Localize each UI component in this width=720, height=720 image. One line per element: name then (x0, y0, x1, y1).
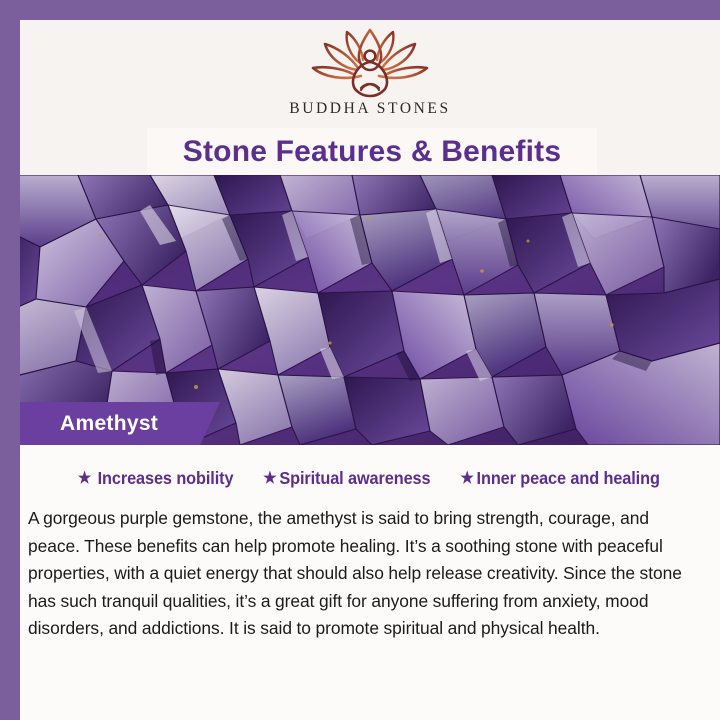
page-title: Stone Features & Benefits (183, 135, 561, 169)
benefit-item-3: ★ Inner peace and healing (461, 468, 660, 489)
benefits-row: ★ Increases nobility ★ Spiritual awarene… (20, 468, 720, 489)
logo-block: BUDDHA STONES (20, 26, 720, 118)
stone-name-banner: Amethyst (20, 402, 220, 445)
benefit-label-2: Spiritual awareness (279, 468, 430, 489)
lotus-meditation-icon (295, 26, 445, 98)
star-icon: ★ (263, 471, 276, 487)
stone-info-body: ★ Increases nobility ★ Spiritual awarene… (20, 445, 720, 720)
star-icon: ★ (78, 471, 91, 487)
benefit-item-1: ★ Increases nobility (78, 468, 234, 489)
page-title-panel: Stone Features & Benefits (147, 128, 597, 175)
benefit-item-2: ★ Spiritual awareness (263, 468, 430, 489)
star-icon: ★ (461, 471, 474, 487)
stone-description: A gorgeous purple gemstone, the amethyst… (28, 505, 704, 643)
benefit-label-1: Increases nobility (98, 468, 234, 489)
content-card: BUDDHA STONES Stone Features & Benefits (20, 20, 720, 720)
brand-wordmark: BUDDHA STONES (20, 100, 720, 118)
poster-root: BUDDHA STONES Stone Features & Benefits (0, 0, 720, 720)
stone-name: Amethyst (60, 412, 158, 436)
benefit-label-3: Inner peace and healing (477, 468, 660, 489)
